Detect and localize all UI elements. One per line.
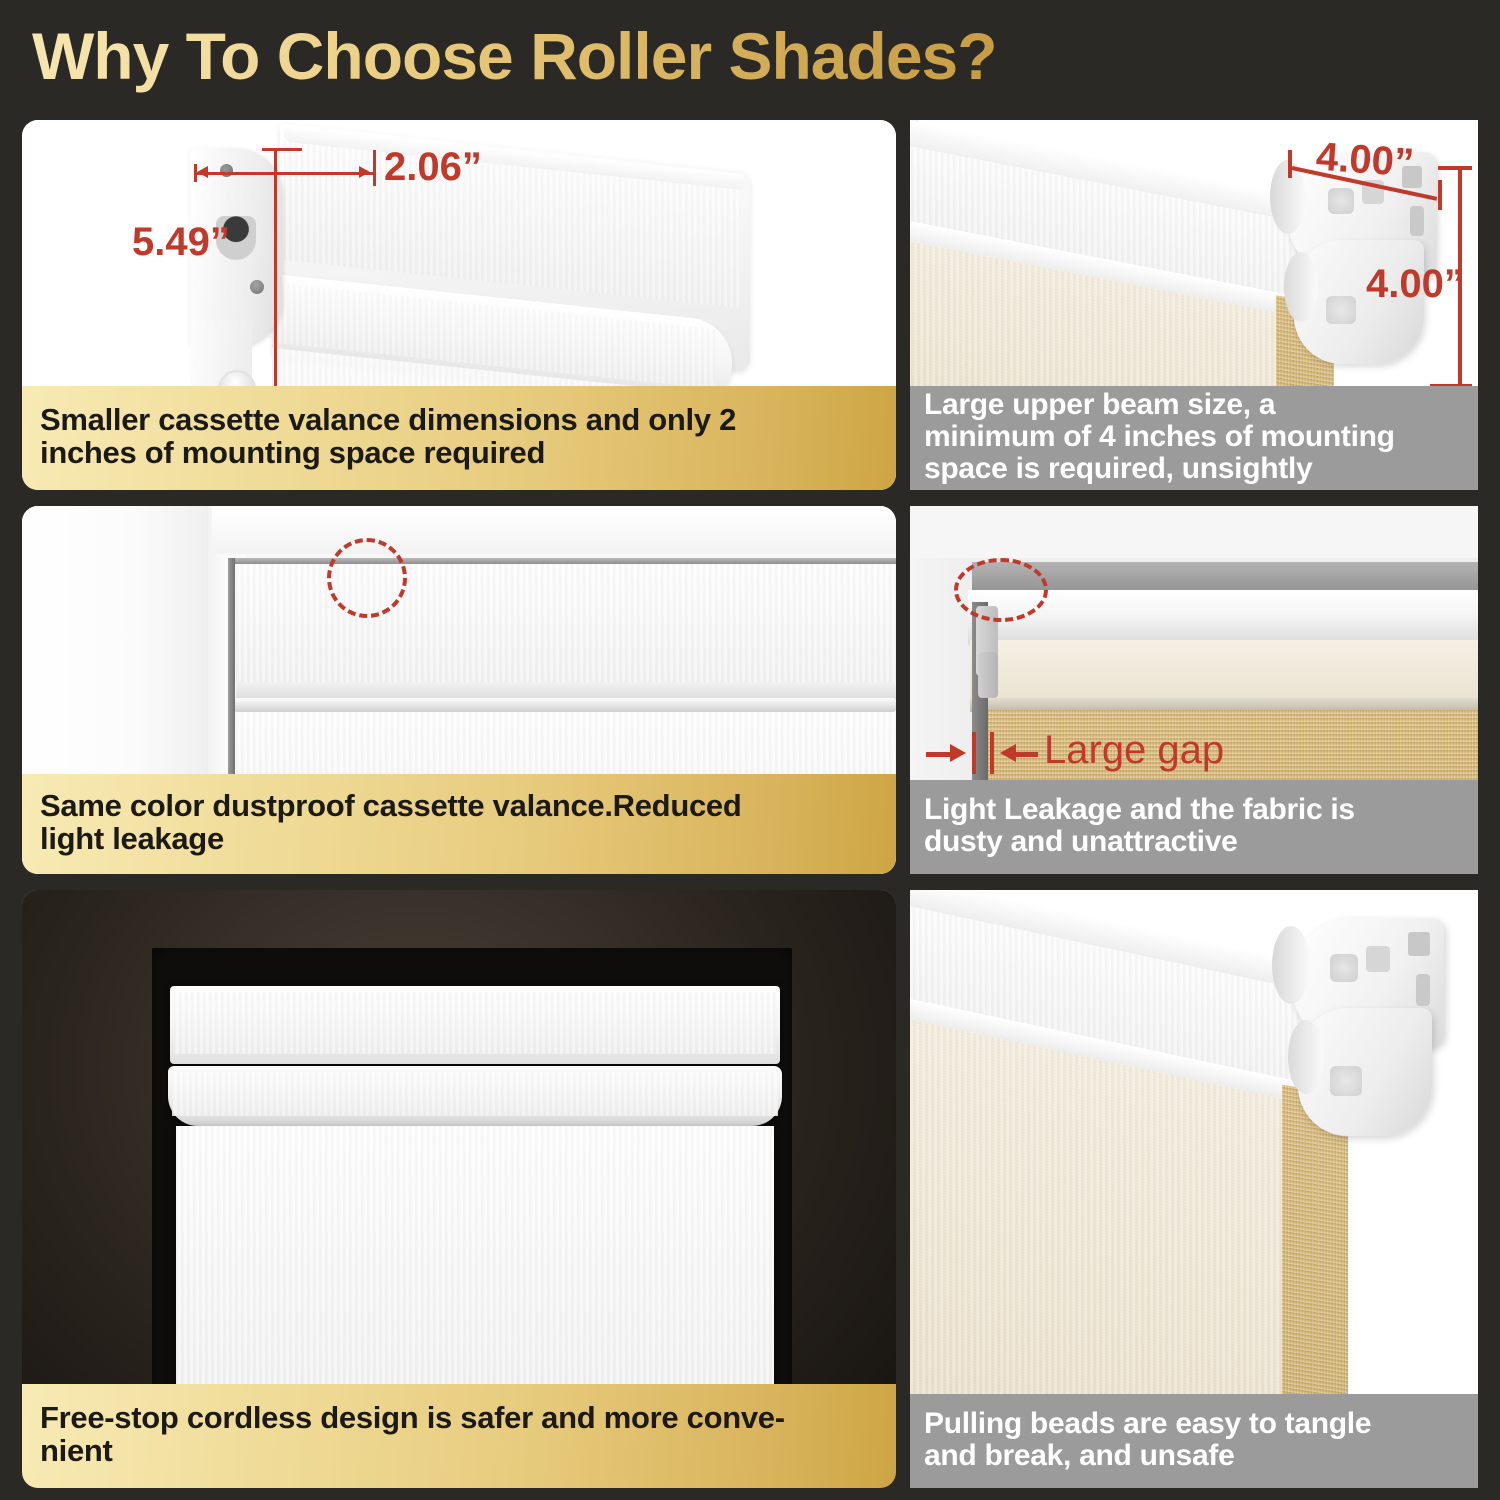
gap-arrow-right: [1014, 752, 1038, 757]
highlight-circle-icon: [954, 558, 1048, 622]
gap-arrow-left: [926, 752, 952, 757]
header: Why To Choose Roller Shades?: [0, 0, 1500, 108]
panel-bottom-left-caption: Free-stop cordless design is safer and m…: [22, 1384, 896, 1488]
panel-top-right[interactable]: 4.00” 4.00” Large upper beam size, a min…: [910, 120, 1478, 490]
dimension-label-width: 4.00”: [1315, 135, 1416, 187]
dimension-label-width: 2.06”: [384, 145, 482, 190]
panel-middle-left[interactable]: smaller gap Same color dustproof cassett…: [22, 506, 896, 874]
panel-middle-right-caption: Light Leakage and the fabric is dusty an…: [910, 780, 1478, 874]
panel-top-left-caption: Smaller cassette valance dimensions and …: [22, 386, 896, 490]
page-title: Why To Choose Roller Shades?: [32, 18, 997, 94]
gap-callout-label: Large gap: [1044, 728, 1224, 773]
panel-bottom-right[interactable]: Pulling beads are easy to tangle and bre…: [910, 890, 1478, 1488]
panel-middle-left-caption: Same color dustproof cassette valance.Re…: [22, 774, 896, 874]
caption-text: Smaller cassette valance dimensions and …: [40, 403, 736, 469]
panel-bottom-right-caption: Pulling beads are easy to tangle and bre…: [910, 1394, 1478, 1488]
caption-text: Pulling beads are easy to tangle and bre…: [924, 1408, 1371, 1472]
caption-text: Light Leakage and the fabric is dusty an…: [924, 794, 1355, 858]
panel-middle-right[interactable]: Large gap Light Leakage and the fabric i…: [910, 506, 1478, 874]
dimension-line-width: [194, 172, 376, 175]
caption-text: Same color dustproof cassette valance.Re…: [40, 789, 741, 855]
dimension-label-height: 4.00”: [1366, 262, 1464, 307]
dimension-label-height: 5.49”: [132, 220, 230, 265]
panel-top-left[interactable]: 2.06” 5.49” Smaller cassette valance dim…: [22, 120, 896, 490]
highlight-circle-icon: [327, 538, 407, 618]
panel-top-right-caption: Large upper beam size, a minimum of 4 in…: [910, 386, 1478, 490]
caption-text: Large upper beam size, a minimum of 4 in…: [924, 389, 1395, 485]
panel-bottom-left[interactable]: Free-stop cordless design is safer and m…: [22, 890, 896, 1488]
comparison-grid: 2.06” 5.49” Smaller cassette valance dim…: [0, 108, 1500, 1500]
caption-text: Free-stop cordless design is safer and m…: [40, 1401, 785, 1467]
